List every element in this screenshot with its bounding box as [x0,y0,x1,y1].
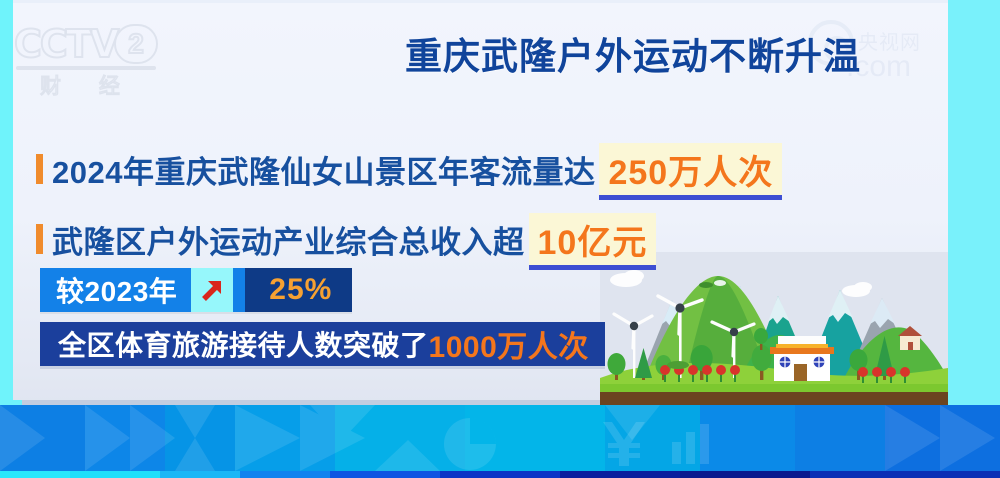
tourism-lead-text: 全区体育旅游接待人数突破了 [58,324,429,364]
house-icon [770,336,834,381]
channel-subtitle: 财 经 [40,70,136,100]
fact-line-revenue: 武隆区户外运动产业综合总收入超 10亿元 [36,213,656,265]
cctv-wordmark: CCTV [14,22,117,66]
tourism-banner: 全区体育旅游接待人数突破了 1000万人次 [40,322,605,366]
bottom-pattern-band [0,400,1000,478]
tourism-highlight-value: 1000万人次 [429,322,589,366]
top-hairline [13,0,948,3]
bullet-tick [36,154,43,184]
growth-compare-label: 较2023年 [40,268,191,312]
fact-lead-text: 武隆区户外运动产业综合总收入超 [52,217,525,262]
growth-value: 25% [245,268,352,312]
fact-line-visitors: 2024年重庆武隆仙女山景区年客流量达 250万人次 [36,143,782,195]
cctv2-logo: CCTV 2 财 经 [14,22,164,92]
arrow-up-right-icon [191,268,233,312]
right-cyan-strip [948,0,1000,400]
fact-lead-text: 2024年重庆武隆仙女山景区年客流量达 [52,147,595,192]
landscape-illustration [600,252,948,400]
channel-number: 2 [114,24,158,64]
fact-highlight-value: 10亿元 [529,213,657,265]
watermark-cn-text: 央视网 [858,26,921,55]
banner-spacer [233,268,245,312]
page-title: 重庆武隆户外运动不断升温 [405,26,861,80]
left-cyan-strip [0,0,13,400]
broadcast-graphic: CCTV 2 财 经 央视网 .com 重庆武隆户外运动不断升温 2024年重庆… [0,0,1000,478]
growth-banner: 较2023年 25% [40,268,352,312]
fact-highlight-value: 250万人次 [599,143,782,195]
bullet-tick [36,224,43,254]
